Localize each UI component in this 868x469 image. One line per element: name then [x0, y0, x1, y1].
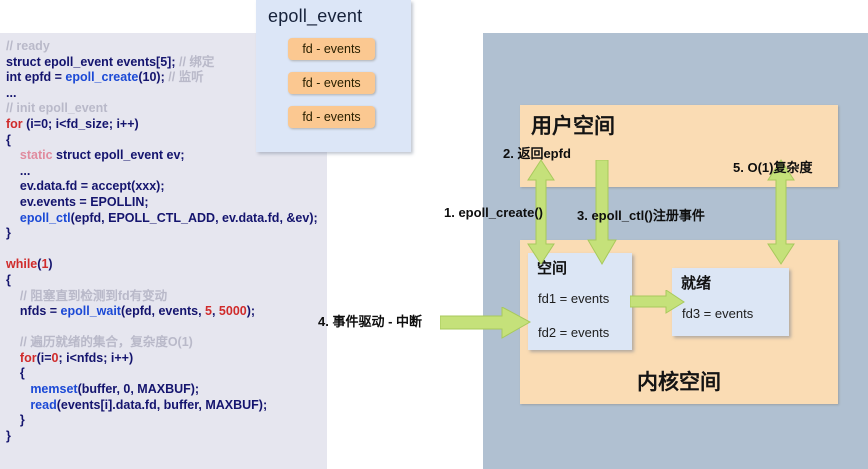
code-token — [6, 148, 20, 162]
code-token: // 阻塞直到检测到fd有变动 — [20, 289, 167, 303]
ready-box-row: fd3 = events — [682, 306, 753, 321]
code-line: while(1) — [6, 257, 323, 273]
code-line: // 阻塞直到检测到fd有变动 — [6, 289, 323, 305]
fd-events-chip: fd - events — [288, 38, 375, 60]
code-token: for — [20, 351, 37, 365]
code-token: while — [6, 257, 37, 271]
code-token: } — [6, 226, 11, 240]
arrow-event-driven-right — [440, 307, 532, 339]
code-token: ; i<nfds; i++) — [58, 351, 133, 365]
code-token: 5000 — [219, 304, 247, 318]
code-token: ); — [247, 304, 255, 318]
code-token: // 绑定 — [179, 55, 214, 69]
label-step-5: 5. O(1)复杂度 — [733, 157, 812, 176]
ready-box: 就绪 fd3 = events — [672, 268, 789, 336]
space-box-row: fd2 = events — [538, 325, 609, 340]
code-line: epoll_ctl(epfd, EPOLL_CTL_ADD, ev.data.f… — [6, 211, 323, 227]
code-line: nfds = epoll_wait(epfd, events, 5, 5000)… — [6, 304, 323, 320]
label-step-2: 2. 返回epfd — [503, 143, 571, 162]
code-line: ... — [6, 164, 323, 180]
code-token: (buffer, 0, MAXBUF); — [78, 382, 200, 396]
code-token: struct epoll_event events[5]; — [6, 55, 179, 69]
code-token: epoll_wait — [61, 304, 121, 318]
code-token: } — [6, 413, 25, 427]
code-line: } — [6, 226, 323, 242]
diagram-root: // readystruct epoll_event events[5]; //… — [0, 0, 868, 469]
code-line — [6, 320, 323, 336]
code-token: (i= — [37, 351, 52, 365]
code-token: ... — [6, 164, 30, 178]
code-token: // 监听 — [168, 70, 203, 84]
code-token — [6, 351, 20, 365]
space-box-row: fd1 = events — [538, 291, 609, 306]
code-line: ev.events = EPOLLIN; — [6, 195, 323, 211]
fd-events-chip: fd - events — [288, 72, 375, 94]
code-token — [6, 289, 20, 303]
code-token — [6, 335, 20, 349]
code-line: } — [6, 413, 323, 429]
code-token: for — [6, 117, 26, 131]
code-token: { — [6, 133, 11, 147]
epoll-event-card-title: epoll_event — [268, 6, 362, 27]
code-token: } — [6, 429, 11, 443]
code-token: ... — [6, 86, 16, 100]
code-token: (events[i].data.fd, buffer, MAXBUF); — [57, 398, 267, 412]
code-token — [6, 398, 30, 412]
code-token: epoll_create — [65, 70, 138, 84]
label-step-4: 4. 事件驱动 - 中断 — [318, 311, 422, 330]
code-token: read — [30, 398, 56, 412]
code-token: int epfd = — [6, 70, 65, 84]
code-token: static — [20, 148, 56, 162]
code-token: memset — [30, 382, 77, 396]
code-token: // ready — [6, 39, 50, 53]
code-line: { — [6, 366, 323, 382]
code-line: memset(buffer, 0, MAXBUF); — [6, 382, 323, 398]
label-step-1: 1. epoll_create() — [444, 205, 543, 220]
code-token: , — [212, 304, 219, 318]
code-line: for(i=0; i<nfds; i++) — [6, 351, 323, 367]
code-token: 5 — [205, 304, 212, 318]
epoll-event-card: epoll_event fd - events fd - events fd -… — [256, 0, 411, 152]
code-token: struct epoll_event ev; — [56, 148, 185, 162]
label-step-3: 3. epoll_ctl()注册事件 — [577, 205, 705, 224]
code-token: // 遍历就绪的集合，复杂度O(1) — [20, 335, 193, 349]
code-line: // 遍历就绪的集合，复杂度O(1) — [6, 335, 323, 351]
code-line: } — [6, 429, 323, 445]
code-token — [6, 382, 30, 396]
code-token: (i=0; i<fd_size; i++) — [26, 117, 139, 131]
code-token: { — [6, 273, 11, 287]
code-token: epoll_ctl — [20, 211, 71, 225]
code-token: (epfd, events, — [121, 304, 205, 318]
code-line: read(events[i].data.fd, buffer, MAXBUF); — [6, 398, 323, 414]
code-token: (epfd, EPOLL_CTL_ADD, ev.data.fd, &ev); — [71, 211, 318, 225]
code-token: ev.data.fd = accept(xxx); — [6, 179, 165, 193]
arrow-space-to-ready — [630, 290, 686, 314]
code-token — [6, 211, 20, 225]
code-token: // init epoll_event — [6, 101, 107, 115]
code-line: ev.data.fd = accept(xxx); — [6, 179, 323, 195]
code-token: nfds = — [6, 304, 61, 318]
code-token: ) — [48, 257, 52, 271]
code-token: ev.events = EPOLLIN; — [6, 195, 149, 209]
code-token: { — [6, 366, 25, 380]
user-space-title: 用户空间 — [531, 110, 615, 140]
space-box: 空间 fd1 = events fd2 = events — [528, 253, 632, 350]
fd-events-chip: fd - events — [288, 106, 375, 128]
code-token: (10); — [138, 70, 168, 84]
code-line — [6, 242, 323, 258]
kernel-space-title: 内核空间 — [520, 366, 838, 396]
code-line: { — [6, 273, 323, 289]
